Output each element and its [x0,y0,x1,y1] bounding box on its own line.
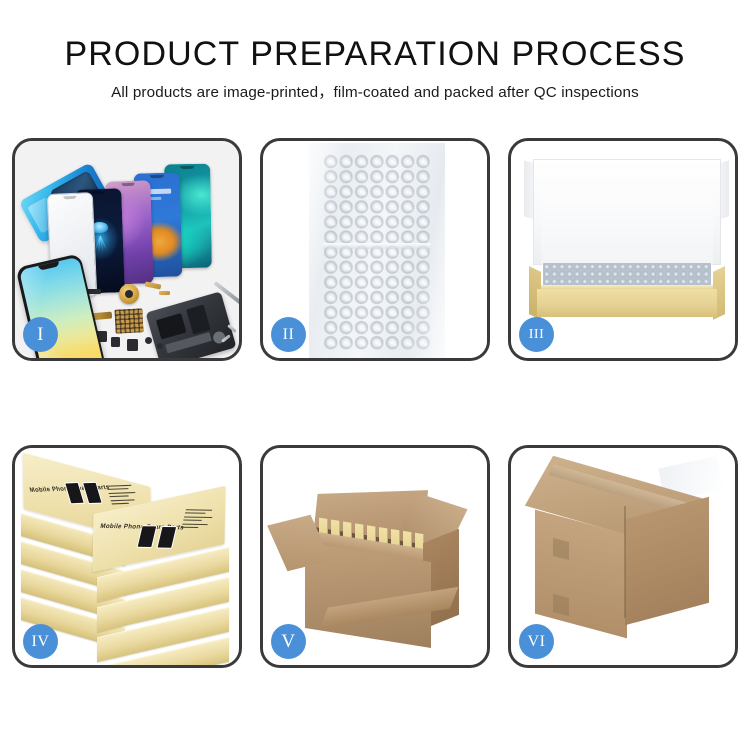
part-screw-2-icon [157,343,163,349]
box-spec-lines-front [181,509,214,530]
part-small-flex-icon [159,291,170,295]
part-connector-icon [145,281,162,289]
process-step-panel-6: VI [508,445,738,668]
box-spec-lines-back [106,485,139,507]
step-badge-1: I [23,317,58,352]
step-badge-4: IV [23,624,58,659]
bubble-wrap-pouch-icon [309,143,445,358]
step-badge-2: II [271,317,306,352]
step-badge-6: VI [519,624,554,659]
page-subtitle: All products are image-printed，film-coat… [0,73,750,102]
part-camera-lens-icon [119,284,139,304]
process-step-panel-1: I [12,138,242,361]
process-step-panel-2: II [260,138,490,361]
part-chip-array-icon [114,308,143,333]
part-module-c-icon [111,337,120,347]
foam-sheet-icon [541,193,713,265]
process-steps-grid: I II [12,138,738,668]
part-screw-icon [145,337,152,344]
page-title: PRODUCT PREPARATION PROCESS [0,0,750,73]
part-module-d-icon [127,339,138,351]
step-badge-3: III [519,317,554,352]
process-step-panel-5: V [260,445,490,668]
infographic-page: PRODUCT PREPARATION PROCESS All products… [0,0,750,750]
header: PRODUCT PREPARATION PROCESS All products… [0,0,750,103]
process-step-panel-4: Mobile Phone Spare Parts Mobile Phone Sp… [12,445,242,668]
step-badge-5: V [271,624,306,659]
process-step-panel-3: III [508,138,738,361]
